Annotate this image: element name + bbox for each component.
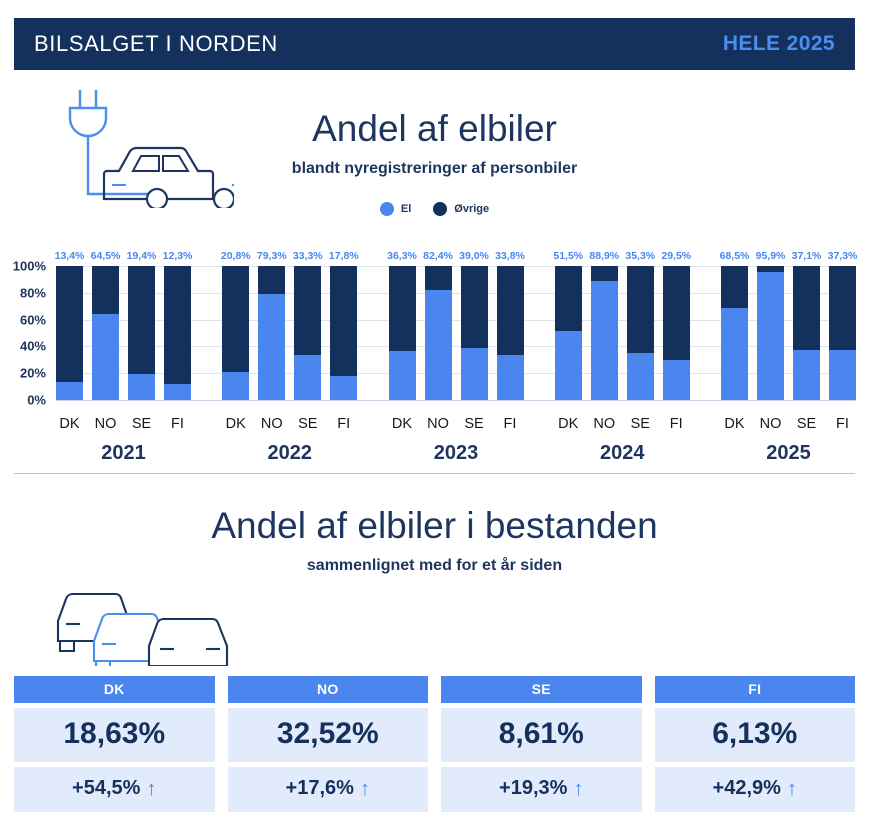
- chart-bar-value-label: 51,5%: [553, 250, 583, 262]
- chart-bar-value-label: 88,9%: [589, 250, 619, 262]
- chart-year-group: 13,4%DK64,5%NO19,4%SE12,3%FI2021: [56, 266, 191, 400]
- chart-bar[interactable]: 33,3%SE: [294, 266, 321, 400]
- chart-bar-segment-el: [222, 372, 249, 400]
- ev-share-stacked-bar-chart: 0%20%40%60%80%100% 13,4%DK64,5%NO19,4%SE…: [0, 255, 869, 465]
- y-axis-tick: 20%: [20, 366, 46, 381]
- chart-bar-segment-el: [294, 355, 321, 400]
- chart-bar-value-label: 17,8%: [329, 250, 359, 262]
- chart-bar-segment-el: [829, 350, 856, 400]
- chart-bar-segment-el: [258, 294, 285, 400]
- legend-item-ovrige: Øvrige: [433, 202, 489, 216]
- stat-card-change: +19,3%↑: [441, 767, 642, 812]
- stat-card-value: 8,61%: [441, 708, 642, 762]
- stat-card: DK18,63%+54,5%↑: [14, 676, 215, 812]
- chart-country-label: DK: [226, 416, 246, 432]
- legend-item-el: El: [380, 202, 411, 216]
- chart-country-label: DK: [392, 416, 412, 432]
- chart-bar-segment-el: [497, 355, 524, 400]
- section2-title: Andel af elbiler i bestanden: [0, 505, 869, 547]
- stat-card-change: +17,6%↑: [228, 767, 429, 812]
- chart-country-label: FI: [670, 416, 683, 432]
- chart-country-label: FI: [337, 416, 350, 432]
- chart-bar-value-label: 39,0%: [459, 250, 489, 262]
- chart-bar-segment-el: [663, 360, 690, 400]
- chart-bar-value-label: 20,8%: [221, 250, 251, 262]
- chart-bar[interactable]: 64,5%NO: [92, 266, 119, 400]
- chart-bar[interactable]: 12,3%FI: [164, 266, 191, 400]
- stat-card-value: 32,52%: [228, 708, 429, 762]
- arrow-up-icon: ↑: [787, 779, 797, 799]
- chart-bar[interactable]: 35,3%SE: [627, 266, 654, 400]
- arrow-up-icon: ↑: [573, 779, 583, 799]
- chart-country-label: FI: [171, 416, 184, 432]
- chart-country-label: NO: [593, 416, 615, 432]
- chart-bar-segment-el: [128, 374, 155, 400]
- chart-country-label: SE: [132, 416, 151, 432]
- chart-country-label: FI: [504, 416, 517, 432]
- chart-bar-segment-el: [389, 351, 416, 400]
- chart-year-group: 51,5%DK88,9%NO35,3%SE29,5%FI2024: [555, 266, 690, 400]
- stat-card-change: +54,5%↑: [14, 767, 215, 812]
- chart-plot-area: 13,4%DK64,5%NO19,4%SE12,3%FI202120,8%DK7…: [56, 266, 856, 400]
- arrow-up-icon: ↑: [360, 779, 370, 799]
- chart-country-label: NO: [261, 416, 283, 432]
- chart-bar-value-label: 82,4%: [423, 250, 453, 262]
- chart-bar-value-label: 64,5%: [91, 250, 121, 262]
- chart-bar-value-label: 37,3%: [828, 250, 858, 262]
- stat-card-change: +42,9%↑: [655, 767, 856, 812]
- chart-bar[interactable]: 13,4%DK: [56, 266, 83, 400]
- chart-year-group: 20,8%DK79,3%NO33,3%SE17,8%FI2022: [222, 266, 357, 400]
- y-axis-tick: 80%: [20, 285, 46, 300]
- chart-bar-segment-el: [461, 348, 488, 400]
- stat-card-change-value: +17,6%: [286, 777, 354, 800]
- chart-bar-value-label: 33,8%: [495, 250, 525, 262]
- chart-bar-value-label: 35,3%: [625, 250, 655, 262]
- chart-bar[interactable]: 33,8%FI: [497, 266, 524, 400]
- chart-bar-segment-el: [92, 314, 119, 400]
- y-axis-tick: 40%: [20, 339, 46, 354]
- y-axis-tick: 100%: [13, 259, 46, 274]
- chart-bar-value-label: 37,1%: [792, 250, 822, 262]
- chart-bar-value-label: 36,3%: [387, 250, 417, 262]
- chart-bar-segment-el: [793, 350, 820, 400]
- stat-card-value: 6,13%: [655, 708, 856, 762]
- chart-year-label: 2022: [222, 442, 357, 465]
- chart-bar[interactable]: 37,3%FI: [829, 266, 856, 400]
- chart-bar[interactable]: 51,5%DK: [555, 266, 582, 400]
- stat-cards: DK18,63%+54,5%↑NO32,52%+17,6%↑SE8,61%+19…: [14, 676, 855, 812]
- chart-bar-segment-el: [425, 290, 452, 400]
- stat-card: SE8,61%+19,3%↑: [441, 676, 642, 812]
- y-axis-tick: 0%: [27, 393, 46, 408]
- chart-bar-value-label: 12,3%: [163, 250, 193, 262]
- chart-year-label: 2023: [389, 442, 524, 465]
- chart-bar[interactable]: 39,0%SE: [461, 266, 488, 400]
- header-period-badge: HELE 2025: [723, 32, 835, 56]
- section1-title: Andel af elbiler: [0, 108, 869, 150]
- chart-baseline: [56, 400, 856, 401]
- chart-country-label: DK: [59, 416, 79, 432]
- legend-swatch-ovrige-icon: [433, 202, 447, 216]
- chart-bar[interactable]: 37,1%SE: [793, 266, 820, 400]
- chart-bar-segment-el: [164, 384, 191, 400]
- arrow-up-icon: ↑: [146, 779, 156, 799]
- chart-country-label: NO: [760, 416, 782, 432]
- chart-bar-value-label: 79,3%: [257, 250, 287, 262]
- chart-year-label: 2021: [56, 442, 191, 465]
- section2-subtitle: sammenlignet med for et år siden: [0, 557, 869, 575]
- chart-year-group: 68,5%DK95,9%NO37,1%SE37,3%FI2025: [721, 266, 856, 400]
- chart-country-label: FI: [836, 416, 849, 432]
- chart-country-label: SE: [631, 416, 650, 432]
- legend-label-ovrige: Øvrige: [454, 203, 489, 215]
- chart-bar-segment-el: [330, 376, 357, 400]
- chart-year-group: 36,3%DK82,4%NO39,0%SE33,8%FI2023: [389, 266, 524, 400]
- y-axis-tick: 60%: [20, 312, 46, 327]
- chart-bar-value-label: 95,9%: [756, 250, 786, 262]
- chart-bar[interactable]: 29,5%FI: [663, 266, 690, 400]
- chart-bar-value-label: 33,3%: [293, 250, 323, 262]
- stat-card-change-value: +19,3%: [499, 777, 567, 800]
- chart-bar[interactable]: 17,8%FI: [330, 266, 357, 400]
- chart-bar-value-label: 13,4%: [55, 250, 85, 262]
- chart-bar-value-label: 29,5%: [661, 250, 691, 262]
- stat-card: NO32,52%+17,6%↑: [228, 676, 429, 812]
- chart-bar-segment-el: [721, 308, 748, 400]
- stat-card: FI6,13%+42,9%↑: [655, 676, 856, 812]
- header-bar: BILSALGET I NORDEN HELE 2025: [14, 18, 855, 70]
- chart-bar[interactable]: 19,4%SE: [128, 266, 155, 400]
- chart-bar[interactable]: 20,8%DK: [222, 266, 249, 400]
- chart-country-label: NO: [427, 416, 449, 432]
- chart-bar[interactable]: 95,9%NO: [757, 266, 784, 400]
- chart-bar-value-label: 19,4%: [127, 250, 157, 262]
- chart-bar-segment-el: [757, 272, 784, 401]
- section-divider: [14, 473, 855, 474]
- chart-country-label: SE: [797, 416, 816, 432]
- stat-card-change-value: +42,9%: [713, 777, 781, 800]
- legend-label-el: El: [401, 203, 411, 215]
- chart-bar[interactable]: 88,9%NO: [591, 266, 618, 400]
- stat-card-country: FI: [655, 676, 856, 703]
- legend-swatch-el-icon: [380, 202, 394, 216]
- section1-subtitle: blandt nyregistreringer af personbiler: [0, 160, 869, 178]
- chart-bar-segment-el: [56, 382, 83, 400]
- stat-card-country: DK: [14, 676, 215, 703]
- header-title: BILSALGET I NORDEN: [34, 31, 278, 57]
- chart-bar[interactable]: 82,4%NO: [425, 266, 452, 400]
- chart-y-axis: 0%20%40%60%80%100%: [0, 255, 52, 405]
- stat-card-change-value: +54,5%: [72, 777, 140, 800]
- chart-country-label: NO: [95, 416, 117, 432]
- chart-bar-segment-el: [591, 281, 618, 400]
- chart-bar[interactable]: 36,3%DK: [389, 266, 416, 400]
- chart-year-label: 2025: [721, 442, 856, 465]
- chart-country-label: DK: [724, 416, 744, 432]
- chart-country-label: SE: [298, 416, 317, 432]
- chart-country-label: DK: [558, 416, 578, 432]
- stat-card-value: 18,63%: [14, 708, 215, 762]
- chart-bar-value-label: 68,5%: [720, 250, 750, 262]
- chart-bar-segment-el: [627, 353, 654, 400]
- chart-country-label: SE: [464, 416, 483, 432]
- chart-year-label: 2024: [555, 442, 690, 465]
- chart-bar[interactable]: 68,5%DK: [721, 266, 748, 400]
- chart-bar[interactable]: 79,3%NO: [258, 266, 285, 400]
- three-cars-icon: [36, 566, 251, 671]
- chart-legend: El Øvrige: [0, 202, 869, 216]
- stat-card-country: NO: [228, 676, 429, 703]
- chart-bar-segment-el: [555, 331, 582, 400]
- stat-card-country: SE: [441, 676, 642, 703]
